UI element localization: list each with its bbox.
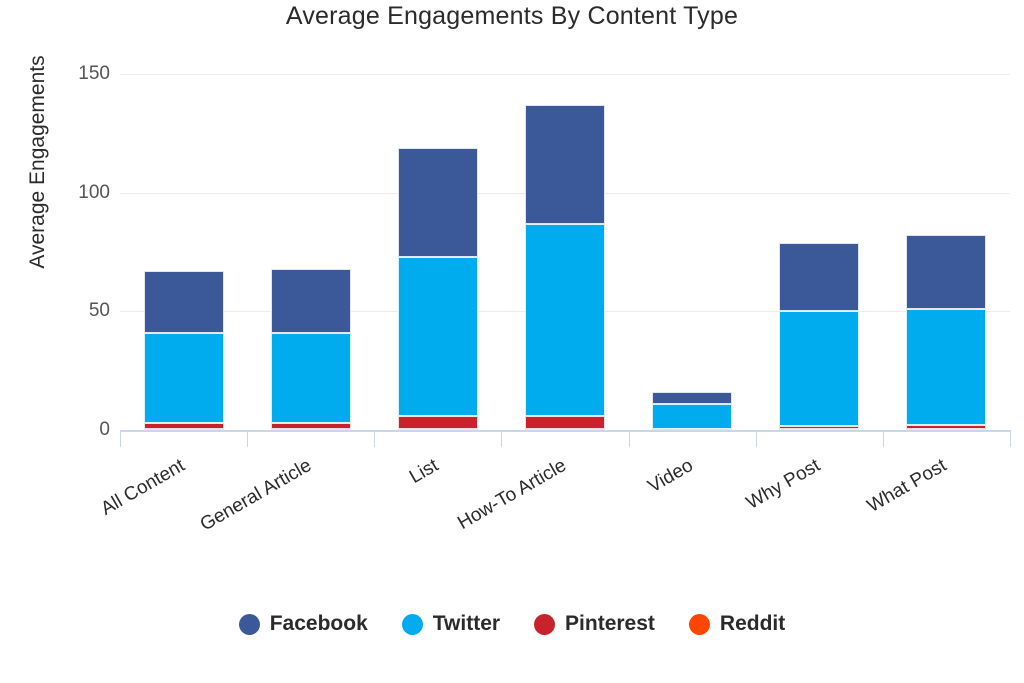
x-axis-tick-label: All Content <box>97 455 188 521</box>
bar-segment-facebook[interactable] <box>398 148 478 257</box>
x-axis-tick <box>1010 430 1011 447</box>
bar-segment-pinterest[interactable] <box>271 423 351 429</box>
legend-item-facebook[interactable]: Facebook <box>239 612 368 636</box>
bar-stack[interactable] <box>779 74 859 430</box>
legend-item-reddit[interactable]: Reddit <box>689 612 785 636</box>
legend-swatch-icon <box>534 614 555 635</box>
bar-stack[interactable] <box>652 74 732 430</box>
legend-item-pinterest[interactable]: Pinterest <box>534 612 655 636</box>
bar-segment-twitter[interactable] <box>906 309 986 425</box>
bar-segment-twitter[interactable] <box>144 333 224 423</box>
bar-stack[interactable] <box>398 74 478 430</box>
x-axis-tick <box>374 430 375 447</box>
bar-stack[interactable] <box>906 74 986 430</box>
x-axis-tick <box>247 430 248 447</box>
x-axis-line <box>120 430 1010 432</box>
chart-legend: FacebookTwitterPinterestReddit <box>0 612 1024 636</box>
legend-label: Twitter <box>433 612 500 636</box>
y-axis-tick-label: 50 <box>40 300 110 322</box>
bar-segment-facebook[interactable] <box>652 392 732 404</box>
y-axis-tick-labels: 050100150 <box>20 74 110 430</box>
x-axis-tick-label: What Post <box>864 455 951 518</box>
bar-segment-pinterest[interactable] <box>398 416 478 429</box>
legend-label: Pinterest <box>565 612 655 636</box>
bar-segment-twitter[interactable] <box>779 311 859 426</box>
bar-segment-twitter[interactable] <box>398 257 478 416</box>
bar-segment-facebook[interactable] <box>271 269 351 333</box>
bar-segment-facebook[interactable] <box>144 271 224 333</box>
bar-segment-pinterest[interactable] <box>144 423 224 429</box>
x-axis-tick-label: Video <box>645 455 698 498</box>
y-axis-tick-label: 150 <box>40 63 110 85</box>
x-axis-tick <box>629 430 630 447</box>
bar-stack[interactable] <box>525 74 605 430</box>
bar-segment-twitter[interactable] <box>271 333 351 423</box>
legend-swatch-icon <box>689 614 710 635</box>
x-axis-tick-label: General Article <box>196 455 315 536</box>
x-axis-tick-label: Why Post <box>743 455 824 515</box>
bar-segment-twitter[interactable] <box>652 404 732 429</box>
legend-label: Reddit <box>720 612 785 636</box>
x-axis-tick <box>756 430 757 447</box>
plot-area <box>120 74 1010 430</box>
legend-label: Facebook <box>270 612 368 636</box>
y-axis-tick-label: 100 <box>40 182 110 204</box>
bar-segment-facebook[interactable] <box>779 243 859 312</box>
chart-title: Average Engagements By Content Type <box>0 2 1024 31</box>
bar-stack[interactable] <box>144 74 224 430</box>
bar-segment-facebook[interactable] <box>525 105 605 224</box>
x-axis-tick <box>120 430 121 447</box>
legend-swatch-icon <box>239 614 260 635</box>
y-axis-tick-label: 0 <box>40 419 110 441</box>
bar-segment-facebook[interactable] <box>906 235 986 309</box>
chart-container: Average Engagements By Content Type Aver… <box>0 0 1024 683</box>
x-axis-tick <box>501 430 502 447</box>
bar-segment-pinterest[interactable] <box>906 425 986 430</box>
legend-swatch-icon <box>402 614 423 635</box>
bar-segment-pinterest[interactable] <box>525 416 605 429</box>
bar-segment-twitter[interactable] <box>525 224 605 416</box>
bar-segment-pinterest[interactable] <box>779 426 859 429</box>
bar-stack[interactable] <box>271 74 351 430</box>
legend-item-twitter[interactable]: Twitter <box>402 612 500 636</box>
x-axis-tick-label: List <box>406 455 443 489</box>
x-axis-tick-label: How-To Article <box>454 455 570 535</box>
x-axis-tick <box>883 430 884 447</box>
